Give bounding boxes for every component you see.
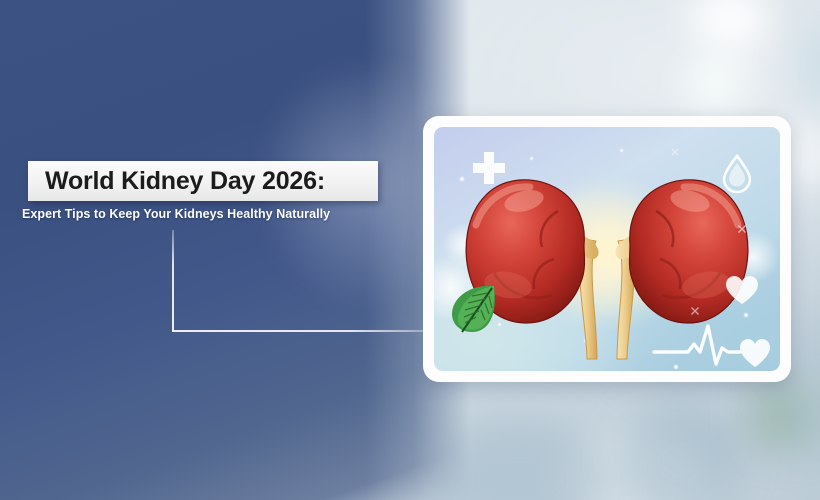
- medical-cross-icon: [470, 149, 508, 187]
- connector-rule-vertical: [172, 230, 174, 331]
- illustration-card: [423, 116, 791, 382]
- illustration-canvas: [434, 127, 780, 371]
- background-bokeh: [684, 56, 746, 114]
- blue-panel: [0, 0, 470, 500]
- sparkle-cross-icon: [670, 147, 680, 157]
- title-box: World Kidney Day 2026:: [28, 161, 378, 201]
- water-drop-icon: [721, 153, 753, 193]
- page-subtitle: Expert Tips to Keep Your Kidneys Healthy…: [22, 207, 330, 221]
- sparkle-cross-icon: [689, 305, 701, 317]
- heart-icon: [725, 275, 759, 305]
- connector-rule-horizontal: [172, 330, 426, 332]
- sparkle-cross-icon: [736, 223, 748, 235]
- banner-image: World Kidney Day 2026: Expert Tips to Ke…: [0, 0, 820, 500]
- heart-small-icon: [740, 339, 770, 367]
- background-green-tint: [735, 375, 820, 465]
- leaf-icon: [448, 282, 500, 336]
- page-title: World Kidney Day 2026:: [45, 167, 325, 196]
- heartbeat-line-icon: [652, 323, 778, 369]
